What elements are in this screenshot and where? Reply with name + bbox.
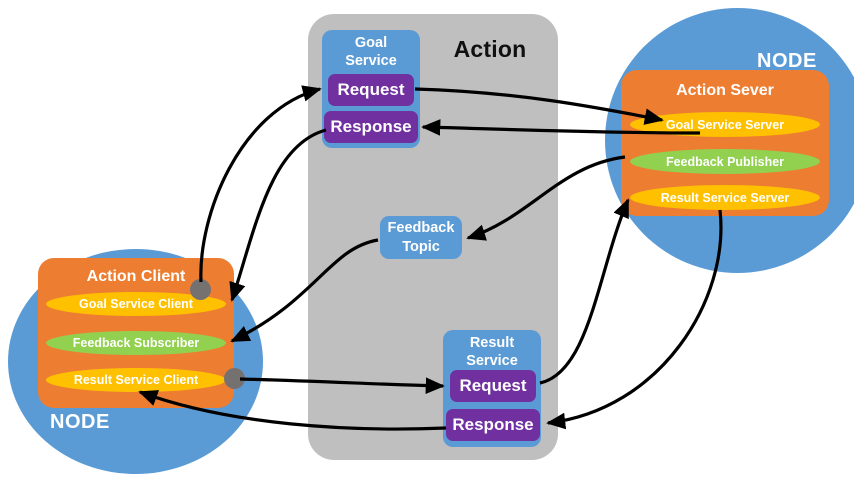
pill-feedback-subscriber[interactable]: Feedback Subscriber: [46, 331, 226, 355]
result-service-title-line2: Service: [443, 352, 541, 371]
pill-result-service-client[interactable]: Result Service Client: [46, 368, 226, 392]
goal-service-response[interactable]: Response: [324, 111, 418, 143]
action-title: Action: [430, 36, 550, 63]
pill-goal-service-server[interactable]: Goal Service Server: [630, 112, 820, 137]
pill-result-service-server[interactable]: Result Service Server: [630, 185, 820, 210]
goal-service-title-line2: Service: [322, 52, 420, 71]
goal-service-client-dot: [190, 279, 211, 300]
result-service-request[interactable]: Request: [450, 370, 536, 402]
result-service-title-line1: Result: [443, 334, 541, 353]
feedback-topic-line1: Feedback: [388, 219, 455, 238]
client-node-label: NODE: [50, 411, 110, 434]
feedback-topic-box[interactable]: Feedback Topic: [380, 216, 462, 259]
feedback-topic-line2: Topic: [402, 238, 440, 257]
result-service-response[interactable]: Response: [446, 409, 540, 441]
arrow-goal-request-out: [201, 89, 320, 282]
goal-service-title-line1: Goal: [322, 34, 420, 53]
result-service-client-dot: [224, 368, 245, 389]
goal-service-request[interactable]: Request: [328, 74, 414, 106]
action-server-title: Action Sever: [621, 82, 829, 100]
diagram-canvas: Action NODE Action Sever Goal Service Se…: [0, 0, 854, 480]
pill-feedback-publisher[interactable]: Feedback Publisher: [630, 149, 820, 174]
